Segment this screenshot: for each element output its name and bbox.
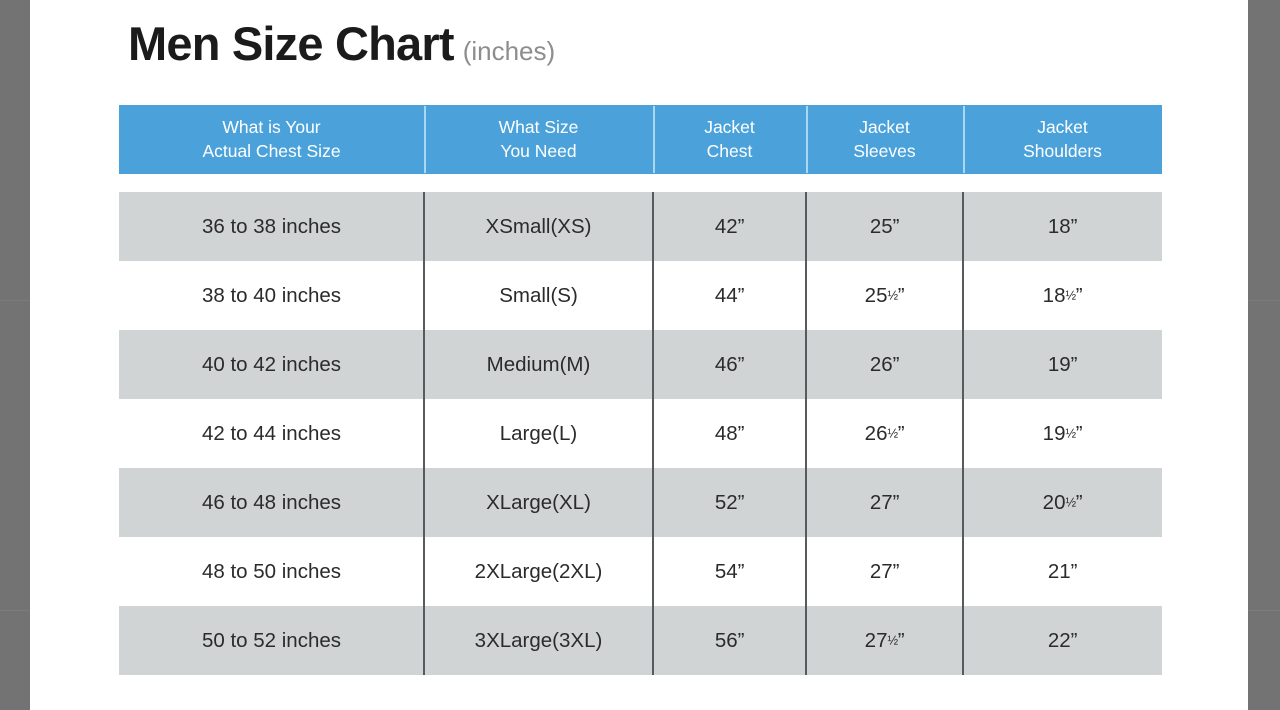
measurement-whole: 27: [870, 560, 893, 583]
column-header-jacket-sleeves: Jacket Sleeves: [806, 105, 963, 174]
inch-mark: ”: [1071, 353, 1078, 376]
column-header-line1: What is Your: [222, 116, 320, 139]
cell-actual-chest-size: 36 to 38 inches: [119, 192, 424, 261]
measurement-value: 22”: [1048, 629, 1077, 653]
cell-jacket-chest: 52”: [653, 468, 806, 537]
measurement-value: 44”: [715, 284, 744, 308]
cell-size-you-need: XLarge(XL): [424, 468, 653, 537]
cell-jacket-sleeves: 25”: [806, 192, 963, 261]
measurement-whole: 20: [1043, 491, 1066, 514]
measurement-whole: 25: [870, 215, 893, 238]
inch-mark: ”: [893, 560, 900, 583]
inch-mark: ”: [738, 491, 745, 514]
measurement-value: 26”: [870, 353, 899, 377]
cell-jacket-sleeves: 26½”: [806, 399, 963, 468]
cell-jacket-shoulders: 21”: [963, 537, 1162, 606]
measurement-whole: 56: [715, 629, 738, 652]
measurement-whole: 27: [865, 629, 888, 652]
column-header-line1: Jacket: [704, 116, 755, 139]
measurement-fraction: ½: [1065, 494, 1075, 509]
inch-mark: ”: [738, 284, 745, 307]
cell-jacket-chest: 46”: [653, 330, 806, 399]
inch-mark: ”: [1071, 215, 1078, 238]
measurement-whole: 27: [870, 491, 893, 514]
measurement-value: 21”: [1048, 560, 1077, 584]
cell-jacket-sleeves: 27”: [806, 537, 963, 606]
column-header-line1: Jacket: [1037, 116, 1088, 139]
inch-mark: ”: [1071, 560, 1078, 583]
measurement-whole: 26: [865, 422, 888, 445]
inch-mark: ”: [898, 284, 905, 307]
measurement-fraction: ½: [887, 287, 897, 302]
inch-mark: ”: [738, 560, 745, 583]
cell-jacket-sleeves: 26”: [806, 330, 963, 399]
measurement-value: 25½”: [865, 284, 905, 308]
measurement-value: 19½”: [1043, 422, 1083, 446]
inch-mark: ”: [1076, 491, 1083, 514]
inch-mark: ”: [898, 629, 905, 652]
measurement-value: 18”: [1048, 215, 1077, 239]
table-row: 46 to 48 inchesXLarge(XL)52”27”20½”: [119, 468, 1162, 537]
measurement-whole: 54: [715, 560, 738, 583]
inch-mark: ”: [898, 422, 905, 445]
inch-mark: ”: [1076, 422, 1083, 445]
measurement-whole: 26: [870, 353, 893, 376]
measurement-fraction: ½: [1065, 425, 1075, 440]
measurement-whole: 19: [1043, 422, 1066, 445]
cell-actual-chest-size: 42 to 44 inches: [119, 399, 424, 468]
measurement-value: 52”: [715, 491, 744, 515]
cell-jacket-sleeves: 27”: [806, 468, 963, 537]
cell-jacket-shoulders: 19½”: [963, 399, 1162, 468]
measurement-value: 25”: [870, 215, 899, 239]
measurement-fraction: ½: [887, 425, 897, 440]
cell-jacket-chest: 54”: [653, 537, 806, 606]
table-row: 38 to 40 inchesSmall(S)44”25½”18½”: [119, 261, 1162, 330]
measurement-whole: 18: [1043, 284, 1066, 307]
cell-jacket-shoulders: 20½”: [963, 468, 1162, 537]
column-header-line1: What Size: [499, 116, 579, 139]
page-title: Men Size Chart (inches): [128, 20, 555, 67]
cell-size-you-need: 3XLarge(3XL): [424, 606, 653, 675]
left-letterbox-bar: [0, 0, 30, 710]
measurement-whole: 52: [715, 491, 738, 514]
inch-mark: ”: [1076, 284, 1083, 307]
column-header-size-you-need: What Size You Need: [424, 105, 653, 174]
measurement-value: 27”: [870, 560, 899, 584]
measurement-value: 54”: [715, 560, 744, 584]
measurement-value: 42”: [715, 215, 744, 239]
cell-actual-chest-size: 48 to 50 inches: [119, 537, 424, 606]
measurement-whole: 42: [715, 215, 738, 238]
measurement-value: 46”: [715, 353, 744, 377]
inch-mark: ”: [1071, 629, 1078, 652]
column-header-line1: Jacket: [859, 116, 910, 139]
measurement-fraction: ½: [887, 632, 897, 647]
measurement-value: 19”: [1048, 353, 1077, 377]
column-header-jacket-shoulders: Jacket Shoulders: [963, 105, 1162, 174]
cell-jacket-chest: 48”: [653, 399, 806, 468]
measurement-value: 26½”: [865, 422, 905, 446]
measurement-fraction: ½: [1065, 287, 1075, 302]
cell-size-you-need: Large(L): [424, 399, 653, 468]
measurement-whole: 19: [1048, 353, 1071, 376]
measurement-value: 27½”: [865, 629, 905, 653]
measurement-value: 48”: [715, 422, 744, 446]
document-sheet: Men Size Chart (inches) What is Your Act…: [30, 0, 1248, 710]
cell-size-you-need: XSmall(XS): [424, 192, 653, 261]
header-body-gap: [119, 174, 1162, 192]
table-header-row: What is Your Actual Chest Size What Size…: [119, 105, 1162, 174]
cell-jacket-shoulders: 18”: [963, 192, 1162, 261]
table-row: 40 to 42 inchesMedium(M)46”26”19”: [119, 330, 1162, 399]
cell-jacket-sleeves: 25½”: [806, 261, 963, 330]
column-header-line2: Sleeves: [853, 140, 915, 163]
inch-mark: ”: [893, 491, 900, 514]
column-header-actual-chest-size: What is Your Actual Chest Size: [119, 105, 424, 174]
measurement-value: 56”: [715, 629, 744, 653]
size-chart-table: What is Your Actual Chest Size What Size…: [119, 105, 1162, 675]
measurement-whole: 46: [715, 353, 738, 376]
measurement-whole: 22: [1048, 629, 1071, 652]
cell-jacket-sleeves: 27½”: [806, 606, 963, 675]
cell-jacket-shoulders: 22”: [963, 606, 1162, 675]
measurement-value: 20½”: [1043, 491, 1083, 515]
column-header-line2: You Need: [500, 140, 576, 163]
cell-jacket-shoulders: 19”: [963, 330, 1162, 399]
cell-actual-chest-size: 40 to 42 inches: [119, 330, 424, 399]
cell-actual-chest-size: 38 to 40 inches: [119, 261, 424, 330]
right-letterbox-bar: [1248, 0, 1280, 710]
cell-actual-chest-size: 46 to 48 inches: [119, 468, 424, 537]
measurement-whole: 48: [715, 422, 738, 445]
cell-jacket-chest: 56”: [653, 606, 806, 675]
cell-jacket-chest: 44”: [653, 261, 806, 330]
measurement-value: 18½”: [1043, 284, 1083, 308]
cell-size-you-need: Medium(M): [424, 330, 653, 399]
cell-actual-chest-size: 50 to 52 inches: [119, 606, 424, 675]
page-title-units: (inches): [463, 38, 555, 64]
table-row: 36 to 38 inchesXSmall(XS)42”25”18”: [119, 192, 1162, 261]
table-row: 42 to 44 inchesLarge(L)48”26½”19½”: [119, 399, 1162, 468]
cell-jacket-shoulders: 18½”: [963, 261, 1162, 330]
measurement-whole: 25: [865, 284, 888, 307]
inch-mark: ”: [893, 353, 900, 376]
cell-size-you-need: Small(S): [424, 261, 653, 330]
inch-mark: ”: [738, 353, 745, 376]
table-body: 36 to 38 inchesXSmall(XS)42”25”18”38 to …: [119, 192, 1162, 675]
column-header-line2: Chest: [707, 140, 753, 163]
cell-size-you-need: 2XLarge(2XL): [424, 537, 653, 606]
page-title-main: Men Size Chart: [128, 20, 454, 67]
inch-mark: ”: [738, 629, 745, 652]
measurement-whole: 18: [1048, 215, 1071, 238]
inch-mark: ”: [893, 215, 900, 238]
cell-jacket-chest: 42”: [653, 192, 806, 261]
table-row: 48 to 50 inches2XLarge(2XL)54”27”21”: [119, 537, 1162, 606]
column-header-line2: Shoulders: [1023, 140, 1102, 163]
column-header-jacket-chest: Jacket Chest: [653, 105, 806, 174]
inch-mark: ”: [738, 422, 745, 445]
measurement-value: 27”: [870, 491, 899, 515]
measurement-whole: 44: [715, 284, 738, 307]
measurement-whole: 21: [1048, 560, 1071, 583]
table-row: 50 to 52 inches3XLarge(3XL)56”27½”22”: [119, 606, 1162, 675]
inch-mark: ”: [738, 215, 745, 238]
column-header-line2: Actual Chest Size: [202, 140, 340, 163]
